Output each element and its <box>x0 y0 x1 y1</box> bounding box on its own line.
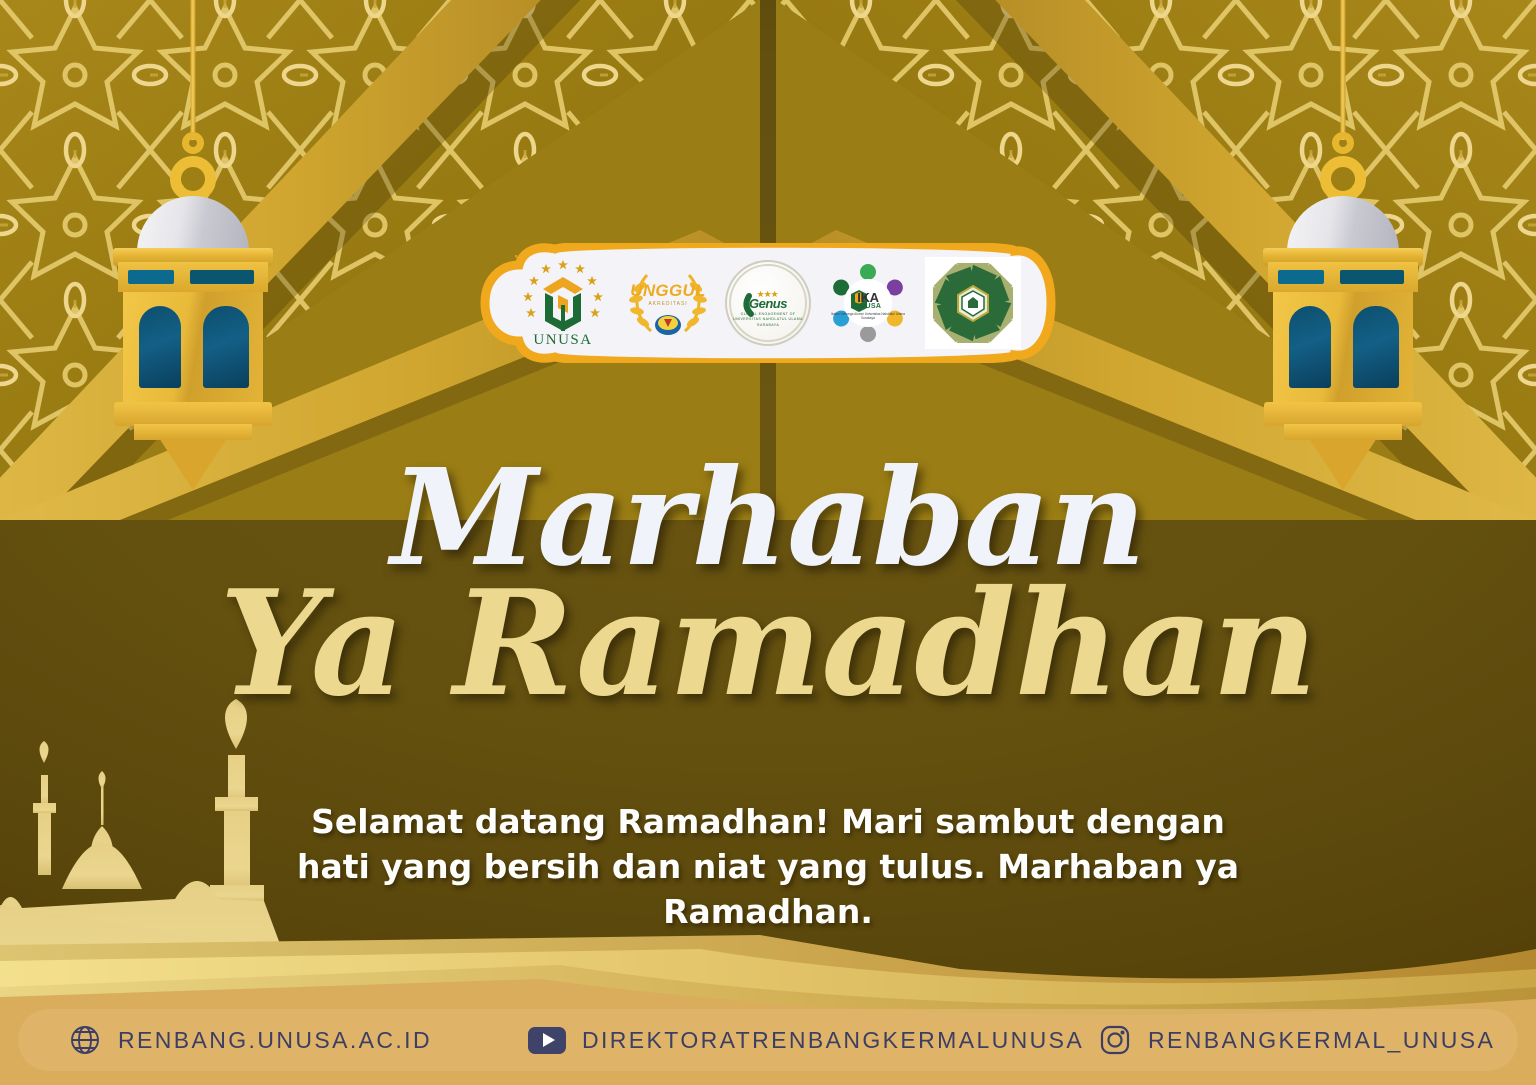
lantern-ring-small <box>1332 132 1354 154</box>
footer-website-label: RENBANG.UNUSA.AC.ID <box>118 1027 432 1054</box>
unggul-word: UNGGUL <box>625 281 711 301</box>
lantern-band-window-2 <box>190 270 254 284</box>
footer-instagram-label: RENBANGKERMAL_UNUSA <box>1148 1027 1495 1054</box>
youtube-icon <box>528 1027 566 1054</box>
lantern-window-1 <box>139 306 181 388</box>
lantern-base <box>1264 402 1422 426</box>
logo-rosette <box>925 257 1021 349</box>
lantern-body <box>123 292 263 410</box>
genus-ring-icon <box>727 262 809 344</box>
page-title: Marhaban Ya Ramadhan <box>0 455 1536 714</box>
lantern-base <box>114 402 272 426</box>
unggul-sub: AKREDITASI <box>625 301 711 307</box>
lantern-cord <box>191 0 196 140</box>
lantern-window-2 <box>1353 306 1399 388</box>
lantern-band-window-1 <box>1278 270 1324 284</box>
ika-tiny: Ikatan Keluarga Alumni Universitas Nahdl… <box>825 312 911 321</box>
footer-youtube[interactable]: DIREKTORATRENBANGKERMALUNUSA <box>528 1027 1084 1054</box>
footer-website[interactable]: RENBANG.UNUSA.AC.ID <box>68 1023 432 1057</box>
lantern-ring-small <box>182 132 204 154</box>
logo-banner: UNUSA <box>475 243 1061 363</box>
lantern-body <box>1273 292 1413 410</box>
lantern-cord <box>1341 0 1346 140</box>
greeting-message: Selamat datang Ramadhan! Mari sambut den… <box>288 800 1248 935</box>
footer-youtube-label: DIREKTORATRENBANGKERMALUNUSA <box>582 1027 1084 1054</box>
logo-unusa: UNUSA <box>515 255 611 351</box>
logo-genus: Genus GLOBAL ENGAGEMENT OF UNIVERSITAS N… <box>725 260 811 346</box>
lantern-band <box>118 262 268 292</box>
footer: RENBANG.UNUSA.AC.ID DIREKTORATRENBANGKER… <box>0 935 1536 1085</box>
logo-ika-unusa: IKA UNUSA Ikatan Keluarga Alumni Univers… <box>825 260 911 346</box>
logo-row: UNUSA <box>533 253 1003 353</box>
lantern-window-2 <box>203 306 249 388</box>
footer-instagram[interactable]: RENBANGKERMAL_UNUSA <box>1098 1023 1495 1057</box>
rosette-emblem-icon <box>925 257 1021 349</box>
ika-sub: UNUSA <box>825 303 911 310</box>
unusa-wordmark: UNUSA <box>515 332 611 349</box>
logo-unggul: UNGGUL AKREDITASI <box>625 261 711 345</box>
lantern-band <box>1268 262 1418 292</box>
lantern-window-1 <box>1289 306 1331 388</box>
footer-contact-bar: RENBANG.UNUSA.AC.ID DIREKTORATRENBANGKER… <box>18 1009 1518 1071</box>
ramadhan-greeting-poster: UNUSA <box>0 0 1536 1085</box>
headline-line-2: Ya Ramadhan <box>0 575 1536 714</box>
instagram-icon <box>1098 1023 1132 1057</box>
genus-sub: GLOBAL ENGAGEMENT OF UNIVERSITAS NAHDLAT… <box>727 312 809 328</box>
lantern-band-window-1 <box>128 270 174 284</box>
lantern-band-window-2 <box>1340 270 1404 284</box>
globe-icon <box>68 1023 102 1057</box>
